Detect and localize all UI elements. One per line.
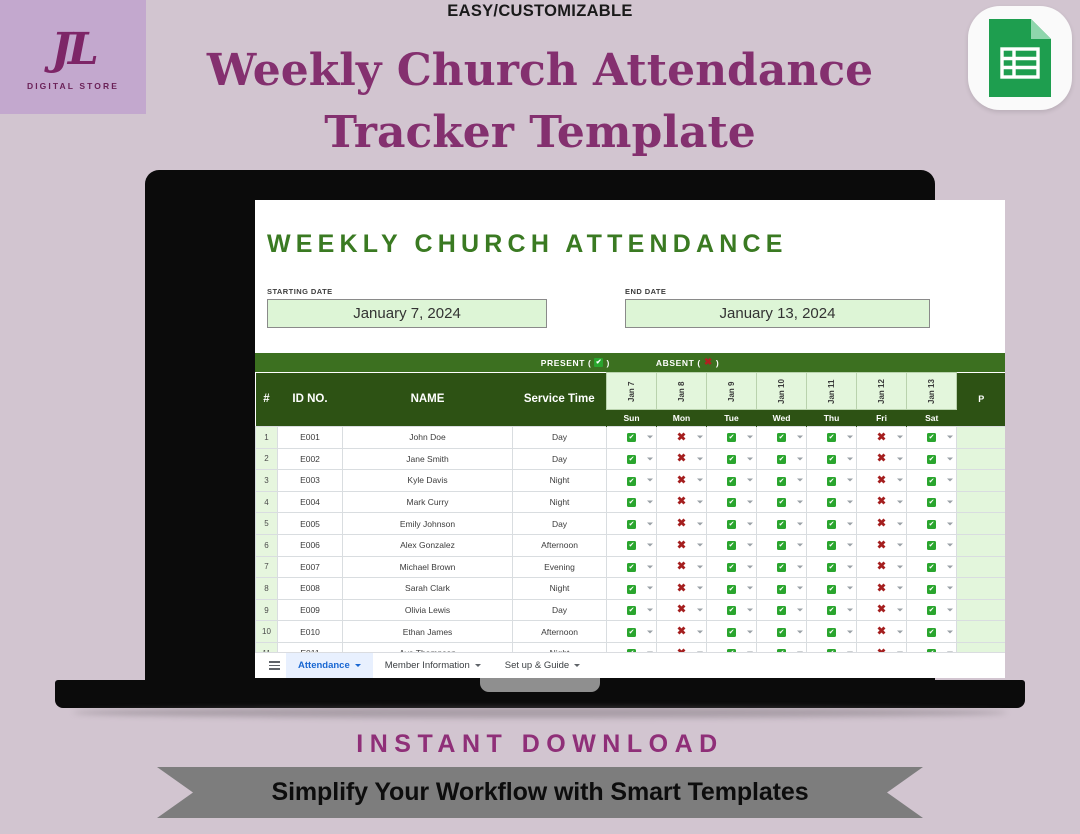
legend-absent-close: ) bbox=[716, 358, 719, 368]
col-header-day: Thu bbox=[807, 410, 857, 427]
check-icon: ✔ bbox=[727, 606, 736, 615]
dropdown-caret-icon[interactable] bbox=[697, 522, 703, 525]
check-icon: ✔ bbox=[727, 628, 736, 637]
instant-download-text: INSTANT DOWNLOAD bbox=[0, 730, 1080, 759]
cell-present[interactable]: ✔ bbox=[907, 599, 957, 621]
dropdown-caret-icon[interactable] bbox=[747, 457, 753, 460]
laptop-trackpad-notch bbox=[480, 678, 600, 692]
dropdown-caret-icon[interactable] bbox=[747, 609, 753, 612]
dropdown-caret-icon[interactable] bbox=[847, 565, 853, 568]
cell-service-time: Night bbox=[513, 491, 607, 513]
cell-present[interactable]: ✔ bbox=[757, 599, 807, 621]
sheets-doc-icon bbox=[989, 19, 1051, 97]
check-icon: ✔ bbox=[927, 455, 936, 464]
check-icon: ✔ bbox=[594, 358, 603, 367]
cell-absent[interactable]: ✖ bbox=[857, 513, 907, 535]
dropdown-caret-icon[interactable] bbox=[697, 501, 703, 504]
cell-absent[interactable]: ✖ bbox=[657, 578, 707, 600]
sheet-tab-member-information[interactable]: Member Information bbox=[373, 653, 493, 679]
dropdown-caret-icon[interactable] bbox=[797, 565, 803, 568]
cell-present[interactable]: ✔ bbox=[757, 491, 807, 513]
check-icon: ✔ bbox=[777, 628, 786, 637]
cell-absent[interactable]: ✖ bbox=[857, 448, 907, 470]
col-header-date: Jan 9 bbox=[707, 373, 757, 410]
cell-present[interactable]: ✔ bbox=[907, 621, 957, 643]
date-label: Jan 12 bbox=[877, 377, 886, 407]
cell-absent[interactable]: ✖ bbox=[857, 470, 907, 492]
legend-bar: PRESENT ( ✔ ) ABSENT ( ✖ ) bbox=[255, 353, 1005, 372]
cell-service-time: Day bbox=[513, 427, 607, 449]
col-header-day: Wed bbox=[757, 410, 807, 427]
dropdown-caret-icon[interactable] bbox=[897, 544, 903, 547]
dropdown-caret-icon[interactable] bbox=[947, 436, 953, 439]
dropdown-caret-icon[interactable] bbox=[747, 436, 753, 439]
dropdown-caret-icon[interactable] bbox=[797, 630, 803, 633]
col-header-total: P bbox=[957, 373, 1006, 427]
cell-present[interactable]: ✔ bbox=[907, 470, 957, 492]
col-header-date: Jan 8 bbox=[657, 373, 707, 410]
dropdown-caret-icon[interactable] bbox=[947, 609, 953, 612]
col-header-date: Jan 13 bbox=[907, 373, 957, 410]
date-label: Jan 10 bbox=[777, 377, 786, 407]
cross-icon: ✖ bbox=[877, 496, 886, 508]
check-icon: ✔ bbox=[727, 498, 736, 507]
col-header-date: Jan 12 bbox=[857, 373, 907, 410]
cell-row-number: 8 bbox=[256, 578, 278, 600]
cell-row-number: 3 bbox=[256, 470, 278, 492]
check-icon: ✔ bbox=[827, 585, 836, 594]
cell-present[interactable]: ✔ bbox=[757, 470, 807, 492]
table-row: 5E005Emily JohnsonDay✔✖✔✔✔✖✔ bbox=[256, 513, 1006, 535]
cell-total bbox=[957, 556, 1006, 578]
col-header-id: ID NO. bbox=[278, 373, 343, 427]
check-icon: ✔ bbox=[827, 541, 836, 550]
cross-icon: ✖ bbox=[877, 431, 886, 443]
check-icon: ✔ bbox=[627, 455, 636, 464]
end-date-block: END DATE January 13, 2024 bbox=[625, 287, 930, 328]
dropdown-caret-icon[interactable] bbox=[697, 479, 703, 482]
cell-present[interactable]: ✔ bbox=[757, 513, 807, 535]
check-icon: ✔ bbox=[727, 455, 736, 464]
dropdown-caret-icon[interactable] bbox=[947, 457, 953, 460]
dropdown-caret-icon[interactable] bbox=[697, 457, 703, 460]
cell-present[interactable]: ✔ bbox=[907, 578, 957, 600]
laptop-shadow bbox=[73, 707, 1007, 718]
cross-icon: ✖ bbox=[877, 474, 886, 486]
col-header-service-time: Service Time bbox=[513, 373, 607, 427]
cell-present[interactable]: ✔ bbox=[907, 427, 957, 449]
dropdown-caret-icon[interactable] bbox=[747, 565, 753, 568]
cell-present[interactable]: ✔ bbox=[757, 578, 807, 600]
legend-absent: ABSENT ( ✖ ) bbox=[656, 358, 719, 368]
cross-icon: ✖ bbox=[677, 431, 686, 443]
col-header-day: Sat bbox=[907, 410, 957, 427]
cell-present[interactable]: ✔ bbox=[607, 556, 657, 578]
check-icon: ✔ bbox=[777, 541, 786, 550]
cell-present[interactable]: ✔ bbox=[807, 470, 857, 492]
cell-total bbox=[957, 491, 1006, 513]
cross-icon: ✖ bbox=[704, 358, 713, 368]
table-row: 1E001John DoeDay✔✖✔✔✔✖✔ bbox=[256, 427, 1006, 449]
check-icon: ✔ bbox=[777, 585, 786, 594]
cell-absent[interactable]: ✖ bbox=[657, 448, 707, 470]
cross-icon: ✖ bbox=[677, 539, 686, 551]
dropdown-caret-icon[interactable] bbox=[947, 501, 953, 504]
cell-service-time: Afternoon bbox=[513, 534, 607, 556]
cross-icon: ✖ bbox=[877, 604, 886, 616]
check-icon: ✔ bbox=[827, 563, 836, 572]
all-sheets-menu-icon[interactable] bbox=[263, 661, 286, 669]
cell-present[interactable]: ✔ bbox=[607, 513, 657, 535]
dropdown-caret-icon[interactable] bbox=[647, 565, 653, 568]
dropdown-caret-icon[interactable] bbox=[647, 436, 653, 439]
cross-icon: ✖ bbox=[877, 539, 886, 551]
dropdown-caret-icon[interactable] bbox=[797, 457, 803, 460]
cell-row-number: 7 bbox=[256, 556, 278, 578]
cell-present[interactable]: ✔ bbox=[907, 448, 957, 470]
cell-present[interactable]: ✔ bbox=[907, 534, 957, 556]
cell-present[interactable]: ✔ bbox=[807, 534, 857, 556]
cell-id: E005 bbox=[278, 513, 343, 535]
check-icon: ✔ bbox=[727, 585, 736, 594]
cell-absent[interactable]: ✖ bbox=[657, 599, 707, 621]
dropdown-caret-icon[interactable] bbox=[697, 436, 703, 439]
table-row: 4E004Mark CurryNight✔✖✔✔✔✖✔ bbox=[256, 491, 1006, 513]
cell-total bbox=[957, 621, 1006, 643]
dropdown-caret-icon[interactable] bbox=[797, 501, 803, 504]
cell-name: Alex Gonzalez bbox=[343, 534, 513, 556]
dropdown-caret-icon[interactable] bbox=[647, 544, 653, 547]
cell-service-time: Day bbox=[513, 513, 607, 535]
cell-service-time: Day bbox=[513, 599, 607, 621]
cell-service-time: Afternoon bbox=[513, 621, 607, 643]
dropdown-caret-icon[interactable] bbox=[847, 609, 853, 612]
cell-present[interactable]: ✔ bbox=[907, 491, 957, 513]
check-icon: ✔ bbox=[927, 477, 936, 486]
dropdown-caret-icon[interactable] bbox=[647, 609, 653, 612]
check-icon: ✔ bbox=[827, 498, 836, 507]
sheet-tab-attendance[interactable]: Attendance bbox=[286, 653, 373, 679]
cell-absent[interactable]: ✖ bbox=[657, 621, 707, 643]
cell-absent[interactable]: ✖ bbox=[857, 556, 907, 578]
dropdown-caret-icon[interactable] bbox=[897, 522, 903, 525]
dropdown-caret-icon[interactable] bbox=[897, 457, 903, 460]
cell-present[interactable]: ✔ bbox=[707, 491, 757, 513]
dropdown-caret-icon[interactable] bbox=[647, 630, 653, 633]
legend-absent-label: ABSENT ( bbox=[656, 358, 701, 368]
dropdown-caret-icon[interactable] bbox=[897, 609, 903, 612]
cross-icon: ✖ bbox=[677, 496, 686, 508]
check-icon: ✔ bbox=[927, 606, 936, 615]
cell-name: John Doe bbox=[343, 427, 513, 449]
cell-name: Sarah Clark bbox=[343, 578, 513, 600]
cell-present[interactable]: ✔ bbox=[807, 621, 857, 643]
date-label: Jan 11 bbox=[827, 377, 836, 407]
cell-present[interactable]: ✔ bbox=[707, 578, 757, 600]
dropdown-caret-icon[interactable] bbox=[747, 501, 753, 504]
cell-present[interactable]: ✔ bbox=[607, 578, 657, 600]
table-head: # ID NO. NAME Service Time Jan 7 Jan 8 J… bbox=[256, 373, 1006, 427]
dropdown-caret-icon[interactable] bbox=[697, 609, 703, 612]
cell-present[interactable]: ✔ bbox=[807, 556, 857, 578]
dropdown-caret-icon[interactable] bbox=[797, 522, 803, 525]
cell-total bbox=[957, 578, 1006, 600]
check-icon: ✔ bbox=[627, 433, 636, 442]
table-body: 1E001John DoeDay✔✖✔✔✔✖✔2E002Jane SmithDa… bbox=[256, 427, 1006, 679]
laptop-mockup: WEEKLY CHURCH ATTENDANCE STARTING DATE J… bbox=[55, 170, 1025, 722]
chevron-down-icon[interactable] bbox=[475, 664, 481, 667]
check-icon: ✔ bbox=[627, 520, 636, 529]
check-icon: ✔ bbox=[827, 433, 836, 442]
cell-name: Mark Curry bbox=[343, 491, 513, 513]
brand-subtitle: DIGITAL STORE bbox=[27, 81, 119, 91]
dropdown-caret-icon[interactable] bbox=[647, 501, 653, 504]
dropdown-caret-icon[interactable] bbox=[897, 630, 903, 633]
dropdown-caret-icon[interactable] bbox=[697, 587, 703, 590]
date-label: Jan 7 bbox=[627, 377, 636, 407]
dropdown-caret-icon[interactable] bbox=[697, 630, 703, 633]
cell-present[interactable]: ✔ bbox=[607, 470, 657, 492]
cell-present[interactable]: ✔ bbox=[607, 621, 657, 643]
col-header-day: Sun bbox=[607, 410, 657, 427]
check-icon: ✔ bbox=[927, 433, 936, 442]
cross-icon: ✖ bbox=[677, 517, 686, 529]
attendance-table: # ID NO. NAME Service Time Jan 7 Jan 8 J… bbox=[255, 372, 1005, 678]
cell-id: E001 bbox=[278, 427, 343, 449]
cell-present[interactable]: ✔ bbox=[807, 448, 857, 470]
dropdown-caret-icon[interactable] bbox=[947, 587, 953, 590]
dropdown-caret-icon[interactable] bbox=[897, 436, 903, 439]
cell-present[interactable]: ✔ bbox=[907, 513, 957, 535]
cell-absent[interactable]: ✖ bbox=[857, 534, 907, 556]
dropdown-caret-icon[interactable] bbox=[797, 544, 803, 547]
cell-present[interactable]: ✔ bbox=[707, 470, 757, 492]
check-icon: ✔ bbox=[727, 477, 736, 486]
dropdown-caret-icon[interactable] bbox=[947, 544, 953, 547]
cell-present[interactable]: ✔ bbox=[807, 599, 857, 621]
sheet-tab-setup-guide[interactable]: Set up & Guide bbox=[493, 653, 592, 679]
cell-present[interactable]: ✔ bbox=[807, 513, 857, 535]
check-icon: ✔ bbox=[777, 520, 786, 529]
cell-row-number: 9 bbox=[256, 599, 278, 621]
cell-id: E010 bbox=[278, 621, 343, 643]
cross-icon: ✖ bbox=[677, 625, 686, 637]
cell-id: E003 bbox=[278, 470, 343, 492]
date-label: Jan 8 bbox=[677, 377, 686, 407]
cell-row-number: 5 bbox=[256, 513, 278, 535]
cross-icon: ✖ bbox=[877, 625, 886, 637]
dropdown-caret-icon[interactable] bbox=[897, 565, 903, 568]
cell-name: Jane Smith bbox=[343, 448, 513, 470]
check-icon: ✔ bbox=[777, 606, 786, 615]
dropdown-caret-icon[interactable] bbox=[847, 457, 853, 460]
col-header-name: NAME bbox=[343, 373, 513, 427]
dropdown-caret-icon[interactable] bbox=[947, 522, 953, 525]
cell-total bbox=[957, 470, 1006, 492]
dropdown-caret-icon[interactable] bbox=[797, 609, 803, 612]
cell-present[interactable]: ✔ bbox=[607, 599, 657, 621]
cell-absent[interactable]: ✖ bbox=[657, 513, 707, 535]
cell-total bbox=[957, 599, 1006, 621]
dropdown-caret-icon[interactable] bbox=[747, 544, 753, 547]
spreadsheet-title: WEEKLY CHURCH ATTENDANCE bbox=[267, 230, 1005, 259]
cell-absent[interactable]: ✖ bbox=[857, 427, 907, 449]
cell-present[interactable]: ✔ bbox=[707, 621, 757, 643]
legend-present-close: ) bbox=[606, 358, 609, 368]
cell-present[interactable]: ✔ bbox=[607, 534, 657, 556]
dropdown-caret-icon[interactable] bbox=[747, 587, 753, 590]
cell-present[interactable]: ✔ bbox=[807, 491, 857, 513]
check-icon: ✔ bbox=[777, 477, 786, 486]
dropdown-caret-icon[interactable] bbox=[947, 565, 953, 568]
check-icon: ✔ bbox=[927, 541, 936, 550]
cell-id: E004 bbox=[278, 491, 343, 513]
cell-present[interactable]: ✔ bbox=[707, 427, 757, 449]
table-row: 8E008Sarah ClarkNight✔✖✔✔✔✖✔ bbox=[256, 578, 1006, 600]
dropdown-caret-icon[interactable] bbox=[747, 479, 753, 482]
dropdown-caret-icon[interactable] bbox=[747, 630, 753, 633]
table-row: 6E006Alex GonzalezAfternoon✔✖✔✔✔✖✔ bbox=[256, 534, 1006, 556]
cell-absent[interactable]: ✖ bbox=[657, 427, 707, 449]
cell-row-number: 2 bbox=[256, 448, 278, 470]
cell-present[interactable]: ✔ bbox=[807, 427, 857, 449]
check-icon: ✔ bbox=[827, 477, 836, 486]
dropdown-caret-icon[interactable] bbox=[647, 587, 653, 590]
chevron-down-icon[interactable] bbox=[355, 664, 361, 667]
dropdown-caret-icon[interactable] bbox=[897, 501, 903, 504]
check-icon: ✔ bbox=[627, 606, 636, 615]
check-icon: ✔ bbox=[827, 520, 836, 529]
cell-absent[interactable]: ✖ bbox=[657, 556, 707, 578]
check-icon: ✔ bbox=[777, 433, 786, 442]
dropdown-caret-icon[interactable] bbox=[897, 479, 903, 482]
cell-present[interactable]: ✔ bbox=[607, 448, 657, 470]
cell-service-time: Night bbox=[513, 470, 607, 492]
check-icon: ✔ bbox=[627, 541, 636, 550]
table-row: 10E010Ethan JamesAfternoon✔✖✔✔✔✖✔ bbox=[256, 621, 1006, 643]
cell-present[interactable]: ✔ bbox=[757, 556, 807, 578]
cell-absent[interactable]: ✖ bbox=[657, 470, 707, 492]
table-row: 9E009Olivia LewisDay✔✖✔✔✔✖✔ bbox=[256, 599, 1006, 621]
starting-date-input[interactable]: January 7, 2024 bbox=[267, 299, 547, 328]
cell-present[interactable]: ✔ bbox=[707, 534, 757, 556]
cell-present[interactable]: ✔ bbox=[707, 599, 757, 621]
cell-name: Kyle Davis bbox=[343, 470, 513, 492]
cross-icon: ✖ bbox=[677, 474, 686, 486]
dropdown-caret-icon[interactable] bbox=[947, 479, 953, 482]
dropdown-caret-icon[interactable] bbox=[847, 587, 853, 590]
cell-present[interactable]: ✔ bbox=[607, 427, 657, 449]
cross-icon: ✖ bbox=[877, 517, 886, 529]
cell-present[interactable]: ✔ bbox=[807, 578, 857, 600]
cell-present[interactable]: ✔ bbox=[757, 534, 807, 556]
cell-present[interactable]: ✔ bbox=[707, 556, 757, 578]
dropdown-caret-icon[interactable] bbox=[647, 457, 653, 460]
cell-row-number: 6 bbox=[256, 534, 278, 556]
dropdown-caret-icon[interactable] bbox=[797, 436, 803, 439]
dropdown-caret-icon[interactable] bbox=[847, 630, 853, 633]
laptop-screen: WEEKLY CHURCH ATTENDANCE STARTING DATE J… bbox=[255, 200, 1005, 678]
tagline-text: Simplify Your Workflow with Smart Templa… bbox=[272, 778, 809, 807]
dropdown-caret-icon[interactable] bbox=[797, 479, 803, 482]
check-icon: ✔ bbox=[627, 563, 636, 572]
cross-icon: ✖ bbox=[877, 453, 886, 465]
cell-total bbox=[957, 513, 1006, 535]
check-icon: ✔ bbox=[777, 563, 786, 572]
cross-icon: ✖ bbox=[877, 560, 886, 572]
dropdown-caret-icon[interactable] bbox=[847, 479, 853, 482]
cell-absent[interactable]: ✖ bbox=[857, 599, 907, 621]
col-header-day: Fri bbox=[857, 410, 907, 427]
cell-id: E006 bbox=[278, 534, 343, 556]
cell-absent[interactable]: ✖ bbox=[857, 578, 907, 600]
end-date-label: END DATE bbox=[625, 287, 930, 296]
check-icon: ✔ bbox=[827, 606, 836, 615]
check-icon: ✔ bbox=[727, 563, 736, 572]
cell-service-time: Day bbox=[513, 448, 607, 470]
dropdown-caret-icon[interactable] bbox=[697, 565, 703, 568]
cell-name: Ethan James bbox=[343, 621, 513, 643]
page-title-line1: Weekly Church Attendance bbox=[140, 40, 940, 102]
cell-name: Emily Johnson bbox=[343, 513, 513, 535]
dropdown-caret-icon[interactable] bbox=[847, 501, 853, 504]
dropdown-caret-icon[interactable] bbox=[647, 522, 653, 525]
cell-service-time: Evening bbox=[513, 556, 607, 578]
page-title-line2: Tracker Template bbox=[140, 102, 940, 164]
cell-row-number: 4 bbox=[256, 491, 278, 513]
cell-present[interactable]: ✔ bbox=[757, 448, 807, 470]
cross-icon: ✖ bbox=[677, 582, 686, 594]
cell-absent[interactable]: ✖ bbox=[657, 534, 707, 556]
cell-total bbox=[957, 534, 1006, 556]
legend-present-label: PRESENT ( bbox=[541, 358, 592, 368]
dropdown-caret-icon[interactable] bbox=[947, 630, 953, 633]
cell-present[interactable]: ✔ bbox=[607, 491, 657, 513]
check-icon: ✔ bbox=[777, 498, 786, 507]
page-title: Weekly Church Attendance Tracker Templat… bbox=[140, 40, 940, 165]
dropdown-caret-icon[interactable] bbox=[897, 587, 903, 590]
cell-present[interactable]: ✔ bbox=[757, 427, 807, 449]
starting-date-block: STARTING DATE January 7, 2024 bbox=[267, 287, 547, 328]
cell-present[interactable]: ✔ bbox=[907, 556, 957, 578]
sheet-tab-bar: Attendance Member Information Set up & G… bbox=[255, 652, 1005, 678]
cell-present[interactable]: ✔ bbox=[757, 621, 807, 643]
cell-absent[interactable]: ✖ bbox=[657, 491, 707, 513]
cross-icon: ✖ bbox=[677, 453, 686, 465]
dropdown-caret-icon[interactable] bbox=[797, 587, 803, 590]
dropdown-caret-icon[interactable] bbox=[847, 522, 853, 525]
dropdown-caret-icon[interactable] bbox=[847, 436, 853, 439]
dropdown-caret-icon[interactable] bbox=[697, 544, 703, 547]
dropdown-caret-icon[interactable] bbox=[647, 479, 653, 482]
cell-absent[interactable]: ✖ bbox=[857, 491, 907, 513]
dropdown-caret-icon[interactable] bbox=[847, 544, 853, 547]
cell-total bbox=[957, 448, 1006, 470]
cell-absent[interactable]: ✖ bbox=[857, 621, 907, 643]
cell-present[interactable]: ✔ bbox=[707, 513, 757, 535]
check-icon: ✔ bbox=[777, 455, 786, 464]
cell-present[interactable]: ✔ bbox=[707, 448, 757, 470]
table-row: 2E002Jane SmithDay✔✖✔✔✔✖✔ bbox=[256, 448, 1006, 470]
chevron-down-icon[interactable] bbox=[574, 664, 580, 667]
end-date-input[interactable]: January 13, 2024 bbox=[625, 299, 930, 328]
cell-id: E002 bbox=[278, 448, 343, 470]
col-header-date: Jan 11 bbox=[807, 373, 857, 410]
check-icon: ✔ bbox=[727, 520, 736, 529]
col-header-date: Jan 10 bbox=[757, 373, 807, 410]
cross-icon: ✖ bbox=[677, 604, 686, 616]
dropdown-caret-icon[interactable] bbox=[747, 522, 753, 525]
